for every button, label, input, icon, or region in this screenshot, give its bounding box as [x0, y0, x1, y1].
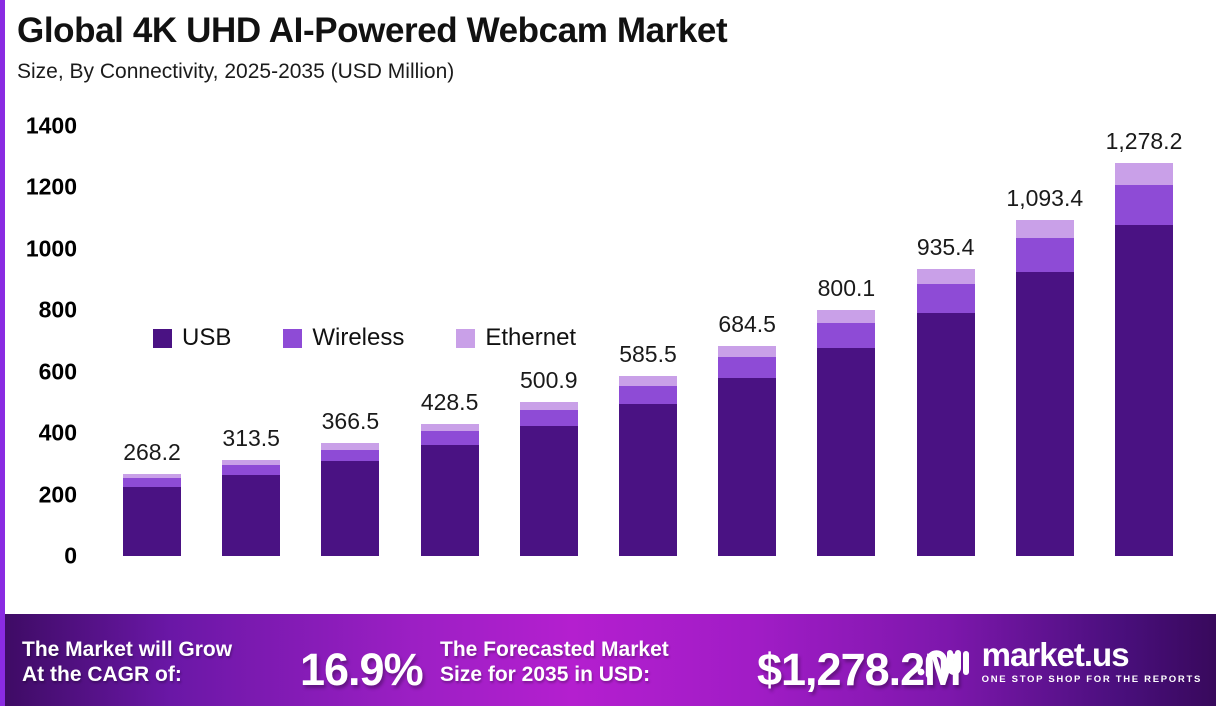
legend-swatch-icon	[153, 329, 172, 348]
bar-segment-usb[interactable]	[520, 426, 578, 556]
bar-segment-usb[interactable]	[421, 445, 479, 556]
bar-segment-ethernet[interactable]	[421, 424, 479, 431]
y-axis-tick: 200	[0, 481, 77, 508]
bar-group[interactable]: 313.5	[222, 460, 280, 556]
bar-segment-ethernet[interactable]	[520, 402, 578, 410]
bar-segment-wireless[interactable]	[917, 284, 975, 313]
bar-value-label: 800.1	[818, 275, 876, 302]
y-axis-tick: 1200	[0, 174, 77, 201]
chart-legend: USBWirelessEthernet	[153, 324, 576, 352]
bar-segment-usb[interactable]	[321, 461, 379, 556]
bar-segment-ethernet[interactable]	[817, 310, 875, 323]
bar-value-label: 366.5	[322, 408, 380, 435]
bar-group[interactable]: 935.4	[917, 269, 975, 556]
legend-label: USB	[182, 324, 231, 352]
y-axis-tick: 1400	[0, 113, 77, 140]
brand-logo[interactable]: market.us ONE STOP SHOP FOR THE REPORTS	[916, 638, 1202, 685]
cagr-value: 16.9%	[300, 644, 423, 696]
bar-value-label: 684.5	[718, 311, 776, 338]
bar-value-label: 1,278.2	[1106, 128, 1183, 155]
bar-segment-ethernet[interactable]	[1115, 163, 1173, 185]
bar-segment-wireless[interactable]	[321, 450, 379, 461]
forecast-label-line1: The Forecasted Market	[440, 638, 669, 663]
bar-segment-usb[interactable]	[619, 404, 677, 556]
bar-value-label: 428.5	[421, 389, 479, 416]
bar-segment-wireless[interactable]	[520, 410, 578, 426]
bar-segment-wireless[interactable]	[222, 465, 280, 475]
bar-value-label: 500.9	[520, 367, 578, 394]
bar-segment-usb[interactable]	[1115, 225, 1173, 556]
bar-value-label: 585.5	[619, 341, 677, 368]
bar-group[interactable]: 500.9	[520, 402, 578, 556]
legend-item-usb[interactable]: USB	[153, 324, 231, 352]
chart-header: Global 4K UHD AI-Powered Webcam Market S…	[5, 0, 1216, 84]
y-axis-tick: 0	[0, 543, 77, 570]
y-axis-tick: 800	[0, 297, 77, 324]
legend-swatch-icon	[283, 329, 302, 348]
brand-tagline: ONE STOP SHOP FOR THE REPORTS	[982, 675, 1202, 685]
chart-poster: Global 4K UHD AI-Powered Webcam Market S…	[0, 0, 1216, 706]
page-title: Global 4K UHD AI-Powered Webcam Market	[17, 12, 1216, 50]
bar-segment-usb[interactable]	[817, 348, 875, 556]
footer-banner: The Market will Grow At the CAGR of: 16.…	[0, 614, 1216, 706]
legend-item-ethernet[interactable]: Ethernet	[456, 324, 576, 352]
bar-segment-wireless[interactable]	[817, 323, 875, 348]
bar-group[interactable]: 366.5	[321, 443, 379, 556]
bar-segment-ethernet[interactable]	[1016, 220, 1074, 238]
bar-value-label: 313.5	[222, 425, 280, 452]
bar-segment-usb[interactable]	[1016, 272, 1074, 556]
bar-segment-wireless[interactable]	[718, 357, 776, 378]
cagr-label-line2: At the CAGR of:	[22, 663, 232, 688]
bar-value-label: 268.2	[123, 439, 181, 466]
legend-label: Wireless	[312, 324, 404, 352]
bar-group[interactable]: 428.5	[421, 424, 479, 556]
brand-name: market.us	[982, 638, 1202, 671]
legend-label: Ethernet	[485, 324, 576, 352]
bar-segment-wireless[interactable]	[1115, 185, 1173, 225]
cagr-label: The Market will Grow At the CAGR of:	[22, 638, 232, 688]
bar-segment-ethernet[interactable]	[619, 376, 677, 385]
y-axis-tick: 600	[0, 358, 77, 385]
bar-group[interactable]: 585.5	[619, 376, 677, 556]
forecast-label-line2: Size for 2035 in USD:	[440, 663, 669, 688]
bar-segment-ethernet[interactable]	[718, 346, 776, 357]
bar-segment-wireless[interactable]	[421, 431, 479, 444]
bar-segment-wireless[interactable]	[619, 386, 677, 404]
brand-text: market.us ONE STOP SHOP FOR THE REPORTS	[982, 638, 1202, 685]
bar-segment-ethernet[interactable]	[917, 269, 975, 284]
bar-group[interactable]: 1,093.4	[1016, 220, 1074, 556]
bar-group[interactable]: 684.5	[718, 346, 776, 556]
forecast-label: The Forecasted Market Size for 2035 in U…	[440, 638, 669, 688]
y-axis-tick: 1000	[0, 235, 77, 262]
bar-value-label: 935.4	[917, 234, 975, 261]
bar-group[interactable]: 1,278.2	[1115, 163, 1173, 556]
chart-area: 0200400600800100012001400 268.2313.5366.…	[5, 112, 1216, 607]
bar-group[interactable]: 800.1	[817, 310, 875, 556]
y-axis-tick: 400	[0, 420, 77, 447]
legend-item-wireless[interactable]: Wireless	[283, 324, 404, 352]
cagr-label-line1: The Market will Grow	[22, 638, 232, 663]
bar-segment-usb[interactable]	[123, 487, 181, 556]
bar-segment-wireless[interactable]	[1016, 238, 1074, 272]
bar-segment-usb[interactable]	[222, 475, 280, 556]
bar-segment-usb[interactable]	[718, 378, 776, 556]
bar-segment-wireless[interactable]	[123, 478, 181, 486]
chart-subtitle: Size, By Connectivity, 2025-2035 (USD Mi…	[17, 60, 1216, 84]
bar-segment-usb[interactable]	[917, 313, 975, 556]
bar-group[interactable]: 268.2	[123, 474, 181, 556]
market-us-logo-icon	[916, 641, 972, 681]
legend-swatch-icon	[456, 329, 475, 348]
bar-value-label: 1,093.4	[1006, 185, 1083, 212]
